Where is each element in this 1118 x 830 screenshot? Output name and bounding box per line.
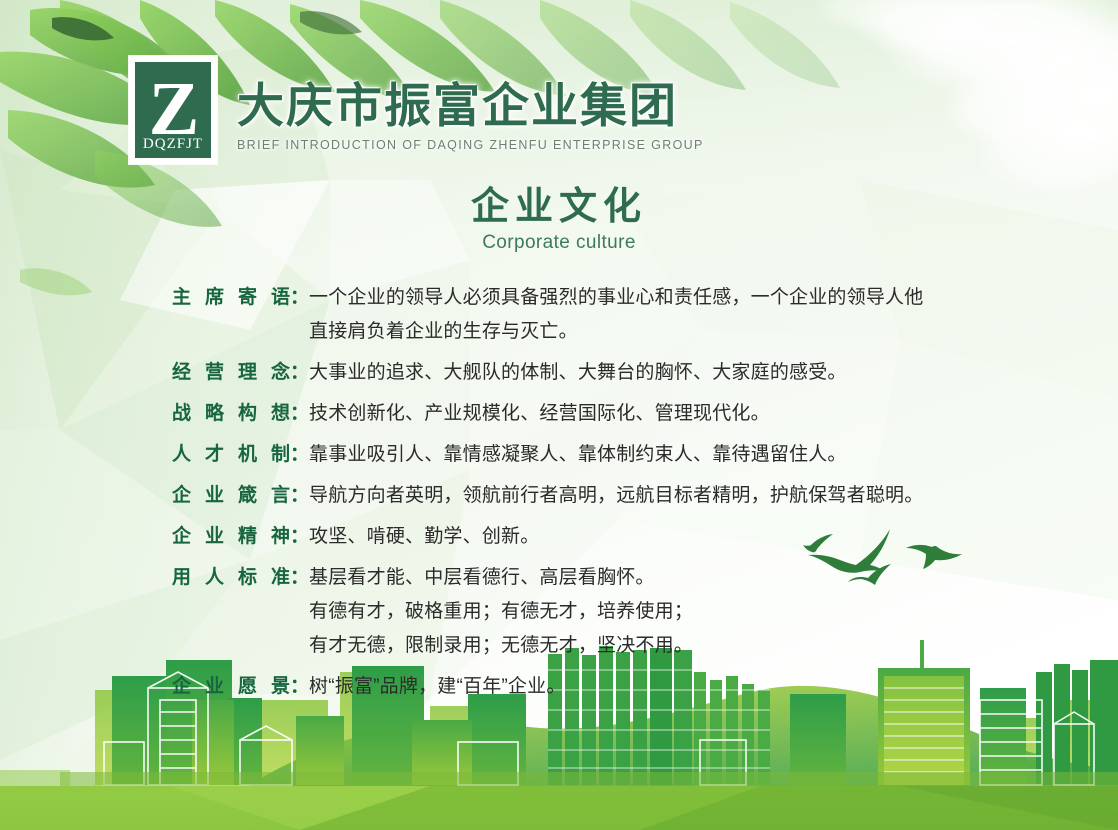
entry-text-line: 直接肩负着企业的生存与灭亡。	[309, 315, 1002, 349]
logo-inner-block: Z DQZFJT	[135, 62, 211, 158]
entry-text-line: 攻坚、啃硬、勤学、创新。	[309, 520, 1002, 554]
entry-text: 基层看才能、中层看德行、高层看胸怀。有德有才，破格重用；有德无才，培养使用；有才…	[309, 561, 1002, 663]
entry-colon: ：	[290, 479, 309, 513]
entry-label: 企业愿景	[172, 670, 290, 704]
entry-label: 主席寄语	[172, 281, 290, 315]
entry-label-char: 经	[172, 356, 191, 390]
entry-label-char: 企	[172, 479, 191, 513]
entry-label-char: 企	[172, 520, 191, 554]
culture-entry: 经营理念：大事业的追求、大舰队的体制、大舞台的胸怀、大家庭的感受。	[172, 356, 1002, 390]
entry-label: 企业精神	[172, 520, 290, 554]
entry-colon: ：	[290, 561, 309, 595]
entry-text-line: 基层看才能、中层看德行、高层看胸怀。	[309, 561, 1002, 595]
entry-text: 攻坚、啃硬、勤学、创新。	[309, 520, 1002, 554]
entry-label-char: 言	[271, 479, 290, 513]
entry-label-char: 箴	[238, 479, 257, 513]
section-title-en: Corporate culture	[0, 232, 1118, 254]
poster-canvas: Z DQZFJT 大庆市振富企业集团 BRIEF INTRODUCTION OF…	[0, 0, 1118, 830]
entry-text: 靠事业吸引人、靠情感凝聚人、靠体制约束人、靠待遇留住人。	[309, 438, 1002, 472]
entry-colon: ：	[290, 670, 309, 704]
entry-text-line: 有德有才，破格重用；有德无才，培养使用；	[309, 595, 1002, 629]
culture-entry: 主席寄语：一个企业的领导人必须具备强烈的事业心和责任感，一个企业的领导人他直接肩…	[172, 281, 1002, 349]
culture-entry: 用人标准：基层看才能、中层看德行、高层看胸怀。有德有才，破格重用；有德无才，培养…	[172, 561, 1002, 663]
entry-text-line: 一个企业的领导人必须具备强烈的事业心和责任感，一个企业的领导人他	[309, 281, 1002, 315]
logo-letter-z: Z	[149, 78, 198, 140]
entry-label-char: 主	[172, 281, 191, 315]
entry-label-char: 人	[172, 438, 191, 472]
entry-label-char: 神	[271, 520, 290, 554]
company-name-cn: 大庆市振富企业集团	[237, 82, 704, 129]
section-title-cn: 企业文化	[0, 188, 1118, 228]
brand-text-block: 大庆市振富企业集团 BRIEF INTRODUCTION OF DAQING Z…	[237, 56, 704, 152]
entry-label-char: 精	[238, 520, 257, 554]
entry-label-char: 战	[172, 397, 191, 431]
entry-colon: ：	[290, 281, 309, 315]
ground-band	[0, 786, 1118, 830]
culture-entry-list: 主席寄语：一个企业的领导人必须具备强烈的事业心和责任感，一个企业的领导人他直接肩…	[172, 281, 1002, 711]
company-name-en: BRIEF INTRODUCTION OF DAQING ZHENFU ENTE…	[237, 138, 704, 152]
logo-abbr-text: DQZFJT	[143, 136, 203, 153]
entry-label: 人才机制	[172, 438, 290, 472]
entry-label-char: 业	[205, 479, 224, 513]
entry-label-char: 人	[205, 561, 224, 595]
entry-colon: ：	[290, 397, 309, 431]
entry-label-char: 愿	[238, 670, 257, 704]
entry-label-char: 企	[172, 670, 191, 704]
culture-entry: 企业箴言：导航方向者英明，领航前行者高明，远航目标者精明，护航保驾者聪明。	[172, 479, 1002, 513]
entry-label-char: 才	[205, 438, 224, 472]
entry-label-char: 机	[238, 438, 257, 472]
entry-text-line: 技术创新化、产业规模化、经营国际化、管理现代化。	[309, 397, 1002, 431]
entry-label-char: 念	[271, 356, 290, 390]
entry-text: 导航方向者英明，领航前行者高明，远航目标者精明，护航保驾者聪明。	[309, 479, 1002, 513]
entry-text: 树“振富”品牌，建“百年”企业。	[309, 670, 1002, 704]
cloud-mist	[810, 0, 1118, 198]
entry-label-char: 席	[205, 281, 224, 315]
entry-label: 战略构想	[172, 397, 290, 431]
entry-label-char: 寄	[238, 281, 257, 315]
entry-label-char: 标	[238, 561, 257, 595]
entry-text-line: 树“振富”品牌，建“百年”企业。	[309, 670, 1002, 704]
entry-colon: ：	[290, 438, 309, 472]
entry-label-char: 构	[238, 397, 257, 431]
entry-text-line: 导航方向者英明，领航前行者高明，远航目标者精明，护航保驾者聪明。	[309, 479, 1002, 513]
entry-label: 经营理念	[172, 356, 290, 390]
entry-text: 大事业的追求、大舰队的体制、大舞台的胸怀、大家庭的感受。	[309, 356, 1002, 390]
entry-label-char: 制	[271, 438, 290, 472]
entry-label-char: 语	[271, 281, 290, 315]
entry-label-char: 营	[205, 356, 224, 390]
entry-label-char: 用	[172, 561, 191, 595]
entry-label-char: 准	[271, 561, 290, 595]
entry-label: 企业箴言	[172, 479, 290, 513]
entry-text: 技术创新化、产业规模化、经营国际化、管理现代化。	[309, 397, 1002, 431]
entry-colon: ：	[290, 356, 309, 390]
entry-label-char: 业	[205, 520, 224, 554]
entry-label-char: 理	[238, 356, 257, 390]
culture-entry: 战略构想：技术创新化、产业规模化、经营国际化、管理现代化。	[172, 397, 1002, 431]
entry-text-line: 靠事业吸引人、靠情感凝聚人、靠体制约束人、靠待遇留住人。	[309, 438, 1002, 472]
entry-label-char: 业	[205, 670, 224, 704]
entry-text-line: 有才无德，限制录用；无德无才，坚决不用。	[309, 629, 1002, 663]
culture-entry: 人才机制：靠事业吸引人、靠情感凝聚人、靠体制约束人、靠待遇留住人。	[172, 438, 1002, 472]
culture-entry: 企业愿景：树“振富”品牌，建“百年”企业。	[172, 670, 1002, 704]
culture-entry: 企业精神：攻坚、啃硬、勤学、创新。	[172, 520, 1002, 554]
section-title: 企业文化 Corporate culture	[0, 188, 1118, 254]
entry-label-char: 略	[205, 397, 224, 431]
entry-label: 用人标准	[172, 561, 290, 595]
entry-label-char: 想	[271, 397, 290, 431]
entry-text-line: 大事业的追求、大舰队的体制、大舞台的胸怀、大家庭的感受。	[309, 356, 1002, 390]
entry-label-char: 景	[271, 670, 290, 704]
brand-header: Z DQZFJT 大庆市振富企业集团 BRIEF INTRODUCTION OF…	[129, 56, 704, 164]
entry-colon: ：	[290, 520, 309, 554]
company-logo: Z DQZFJT	[129, 56, 217, 164]
entry-text: 一个企业的领导人必须具备强烈的事业心和责任感，一个企业的领导人他直接肩负着企业的…	[309, 281, 1002, 349]
